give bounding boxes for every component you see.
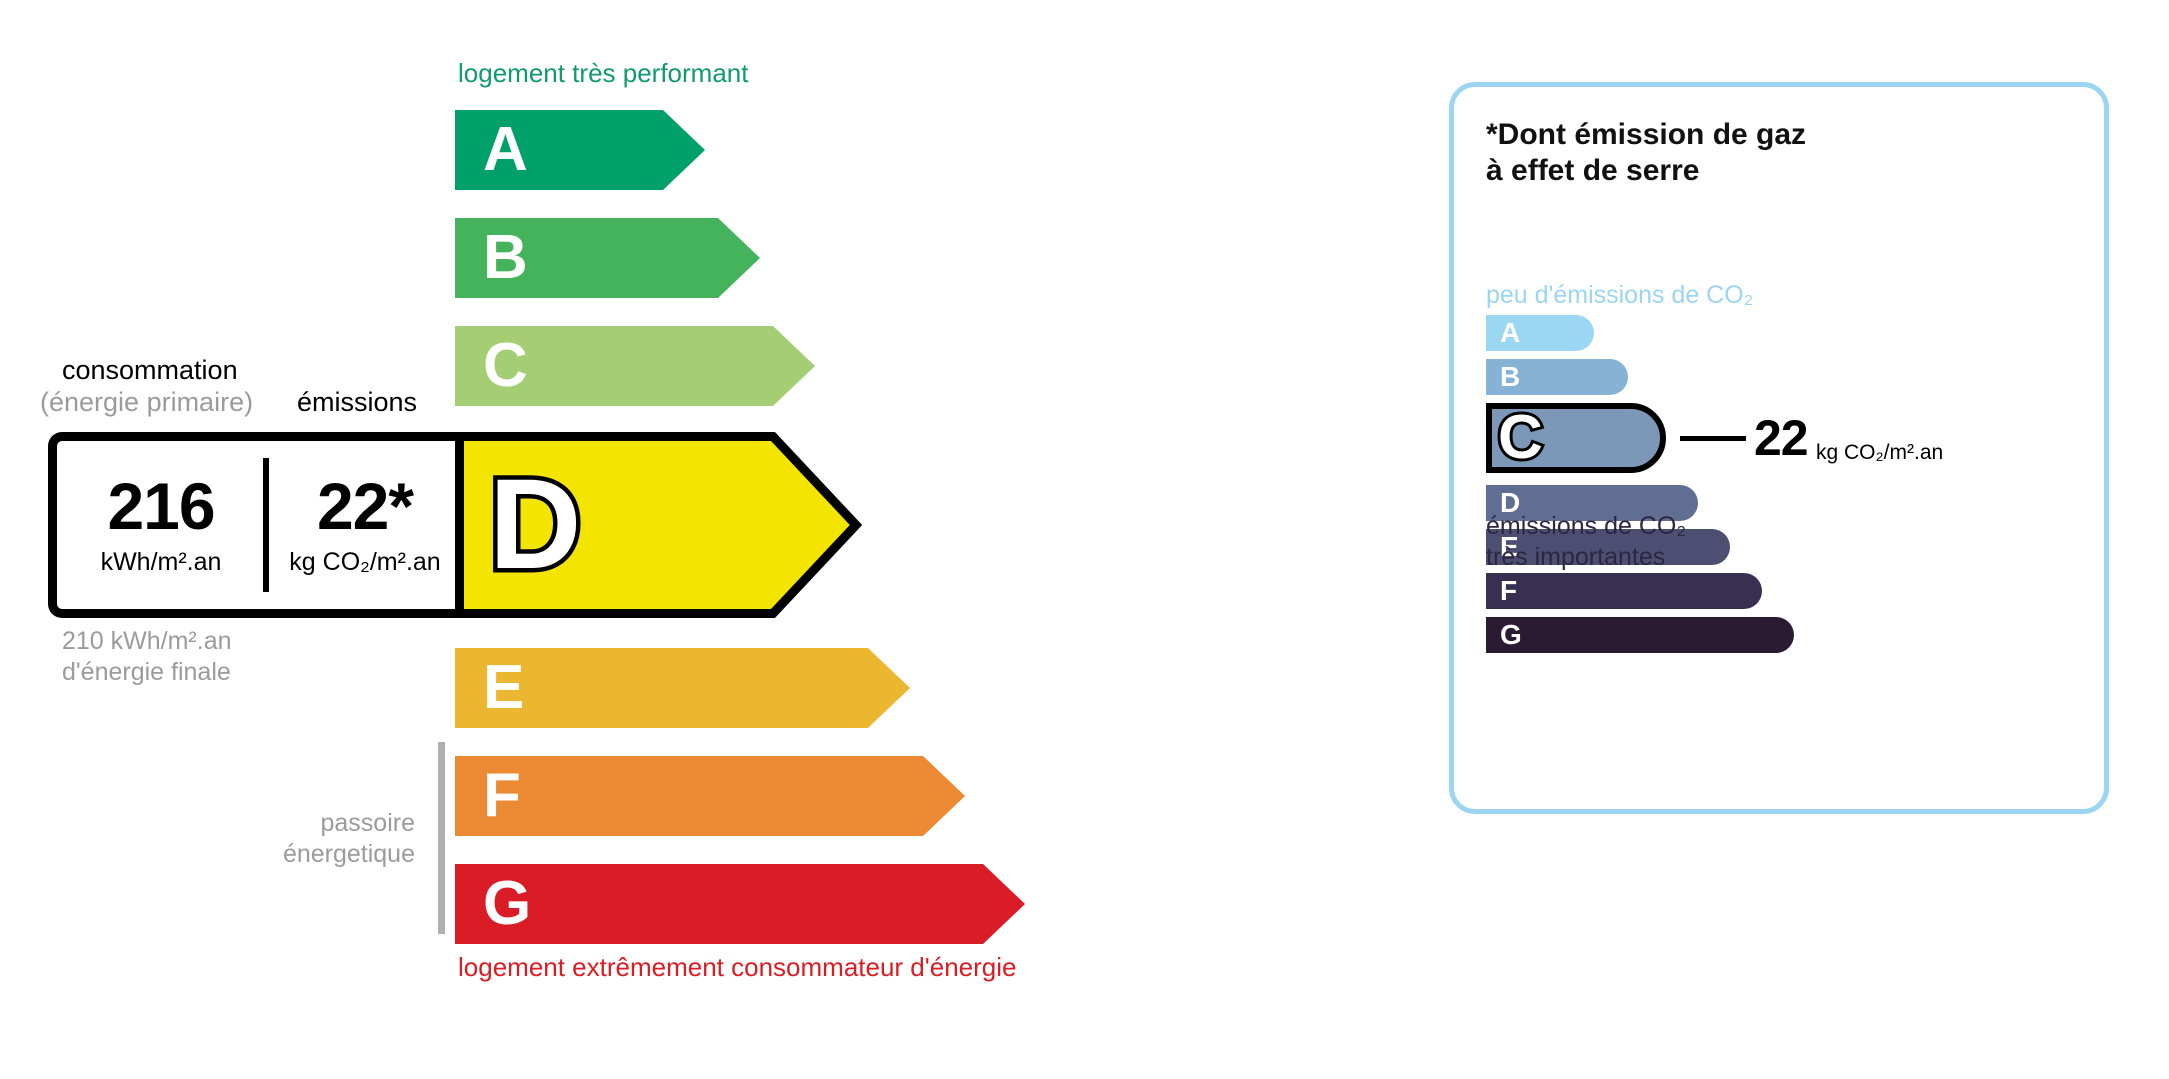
consumption-unit: kWh/m².an	[101, 548, 222, 577]
ges-grade-letter-g: G	[1500, 621, 1522, 649]
energy-grade-row-b: B	[455, 218, 760, 298]
emission-cell: 22* kg CO₂/m².an	[270, 441, 460, 609]
energy-top-caption: logement très performant	[458, 58, 748, 89]
energy-value-box: 216 kWh/m².an 22* kg CO₂/m².an	[48, 432, 468, 618]
energy-arrow-b	[455, 218, 760, 298]
energy-bottom-caption: logement extrêmement consommateur d'éner…	[458, 952, 1016, 983]
energy-arrow-a	[455, 110, 705, 190]
energy-grade-row-c: C	[455, 326, 815, 406]
energy-grade-row-d: D	[455, 432, 865, 618]
energy-arrow-c	[455, 326, 815, 406]
label-consommation: consommation	[62, 355, 238, 386]
ges-grade-row-b: B	[1486, 359, 1628, 395]
ges-callout-value: 22	[1754, 413, 1808, 463]
emission-unit: kg CO₂/m².an	[289, 548, 440, 577]
ges-grade-row-g: G	[1486, 617, 1794, 653]
emission-value: 22*	[317, 473, 413, 539]
ges-grade-row-f: F	[1486, 573, 1762, 609]
ges-grade-letter-f: F	[1500, 577, 1517, 605]
ges-callout-line	[1680, 436, 1746, 441]
energy-arrow-d-selected	[455, 432, 865, 618]
ges-grade-row-a: A	[1486, 315, 1594, 351]
energy-arrow-g	[455, 864, 1025, 944]
ges-top-caption: peu d'émissions de CO₂	[1486, 281, 1753, 310]
ges-grade-letter-a: A	[1500, 319, 1520, 347]
consumption-value: 216	[107, 473, 214, 539]
ges-grade-letter-c: C	[1498, 407, 1543, 469]
energy-arrow-f	[455, 756, 965, 836]
label-energie-primaire: (énergie primaire)	[40, 387, 253, 418]
label-energie-finale: 210 kWh/m².and'énergie finale	[62, 626, 232, 687]
ges-grade-row-c-selected: C	[1486, 403, 1666, 473]
energy-grade-row-g: G	[455, 864, 1025, 944]
energy-grade-row-a: A	[455, 110, 705, 190]
ges-bar-f	[1486, 573, 1762, 609]
ges-grade-letter-b: B	[1500, 363, 1520, 391]
label-emissions: émissions	[297, 387, 417, 418]
energy-performance-panel: logement très performant A B C 216 kWh/m…	[0, 0, 1400, 1079]
consumption-cell: 216 kWh/m².an	[57, 441, 265, 609]
ges-bar-g	[1486, 617, 1794, 653]
energy-grade-row-e: E	[455, 648, 910, 728]
energy-grade-row-f: F	[455, 756, 965, 836]
ges-panel: *Dont émission de gazà effet de serre pe…	[1449, 82, 2109, 814]
energy-arrow-e	[455, 648, 910, 728]
ges-bottom-caption: émissions de CO₂très importantes	[1486, 511, 1686, 572]
ges-callout-unit: kg CO₂/m².an	[1816, 442, 1943, 463]
ges-title: *Dont émission de gazà effet de serre	[1486, 117, 1806, 189]
passoire-label: passoireénergetique	[200, 808, 415, 869]
passoire-bracket	[438, 742, 445, 934]
value-divider	[263, 458, 269, 592]
